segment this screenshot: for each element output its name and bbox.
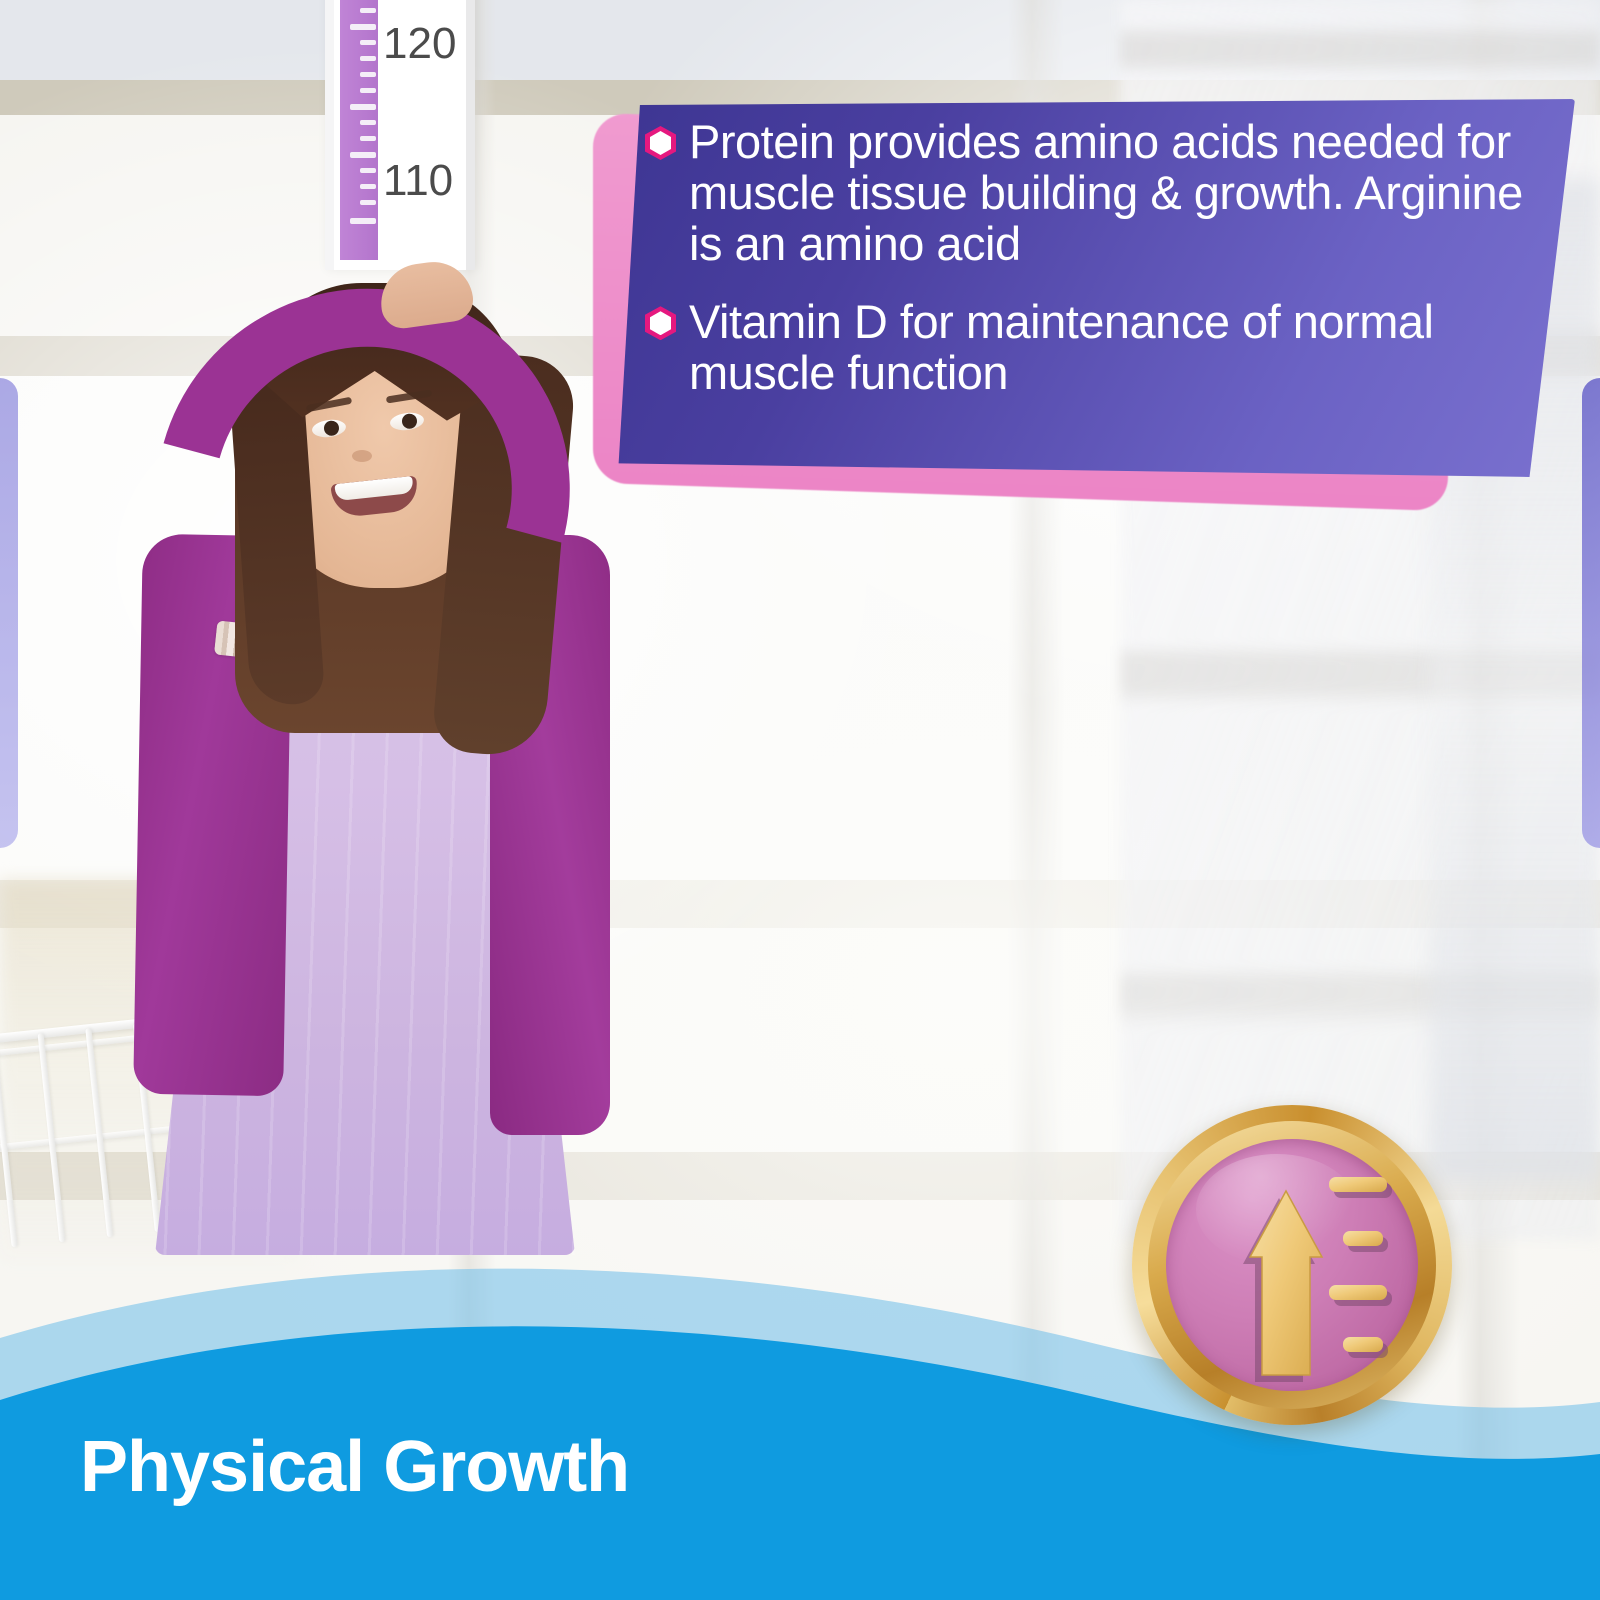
ruler-tick xyxy=(360,200,376,205)
benefit-bullet-1: Protein provides amino acids needed for … xyxy=(645,117,1535,269)
height-chart-strip xyxy=(340,0,378,260)
ruler-tick xyxy=(360,72,376,77)
ruler-tick-major xyxy=(350,24,376,30)
benefit-bullet-2: Vitamin D for maintenance of normal musc… xyxy=(645,297,1535,399)
side-tab-left xyxy=(0,378,18,848)
ruler-tick xyxy=(360,184,376,189)
physical-growth-medal-badge xyxy=(1132,1105,1452,1425)
ruler-tick xyxy=(360,168,376,173)
ruler-tick xyxy=(360,40,376,45)
ruler-tick xyxy=(360,8,376,13)
ruler-tick xyxy=(360,136,376,141)
ruler-tick-major xyxy=(350,218,376,224)
callout-content: Protein provides amino acids needed for … xyxy=(645,117,1535,413)
ruler-tick-major xyxy=(350,104,376,110)
height-label-120: 120 xyxy=(383,19,456,69)
upward-arrow-with-ruler-ticks-icon xyxy=(1166,1139,1418,1391)
ruler-tick-major xyxy=(350,152,376,158)
benefits-callout: Protein provides amino acids needed for … xyxy=(575,95,1575,515)
side-tab-right xyxy=(1582,378,1600,848)
ruler-tick xyxy=(360,56,376,61)
hexagon-bullet-icon xyxy=(645,126,676,160)
page-title: Physical Growth xyxy=(80,1426,629,1508)
height-label-110: 110 xyxy=(383,156,453,206)
benefit-bullet-2-text: Vitamin D for maintenance of normal musc… xyxy=(689,297,1535,399)
ruler-tick xyxy=(360,88,376,93)
infographic-canvas: 120 110 Protein provides amino acids nee… xyxy=(0,0,1600,1600)
ruler-tick xyxy=(360,120,376,125)
hexagon-bullet-icon xyxy=(645,306,676,340)
benefit-bullet-1-text: Protein provides amino acids needed for … xyxy=(689,117,1535,269)
